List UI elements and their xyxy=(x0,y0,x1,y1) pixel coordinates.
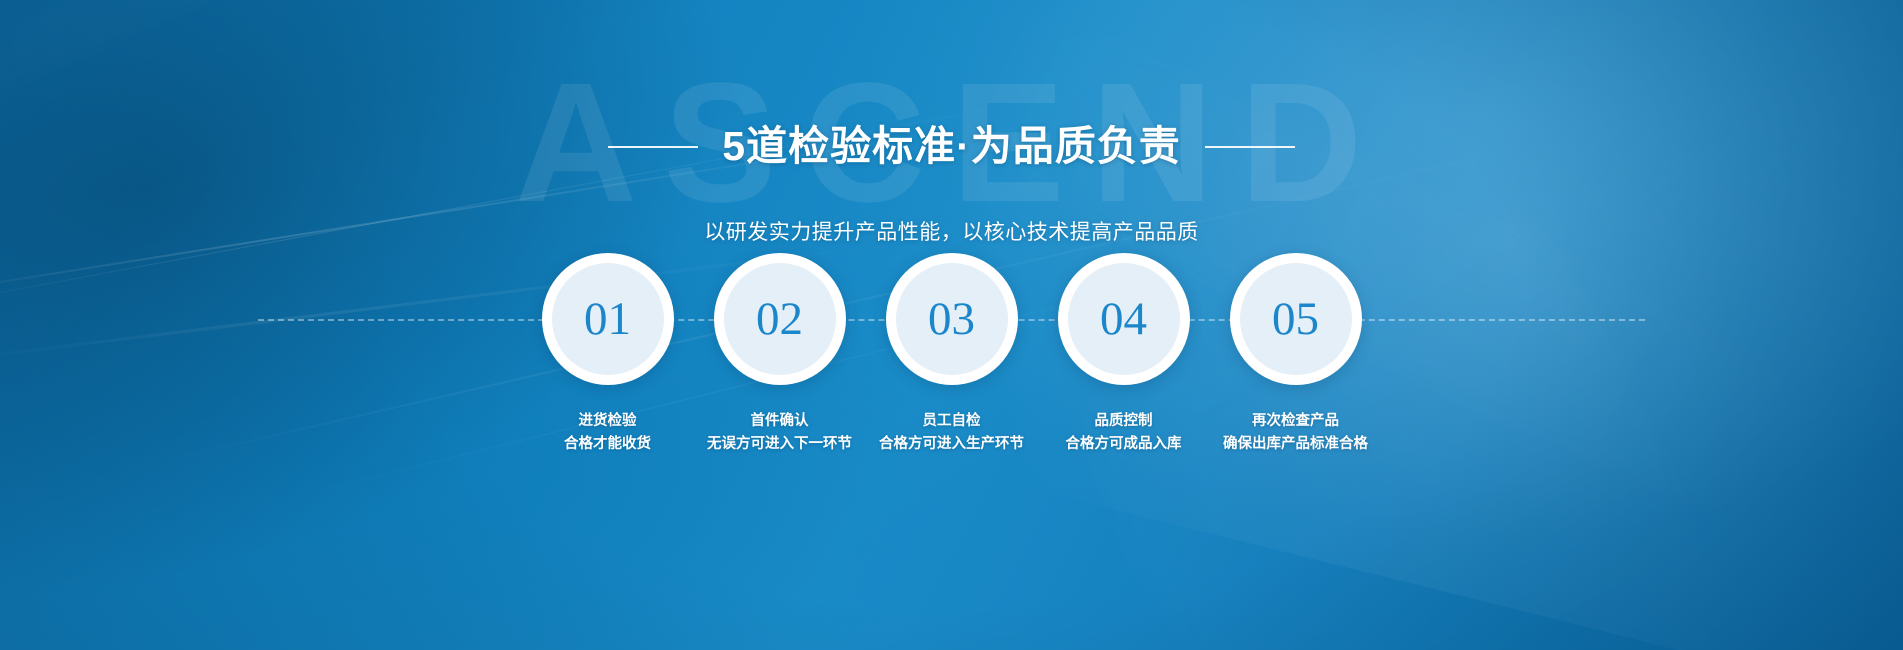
step-item[interactable]: 01进货检验合格才能收货 xyxy=(522,253,694,457)
step-title: 员工自检 xyxy=(879,410,1024,433)
process-steps: 01进货检验合格才能收货02首件确认无误方可进入下一环节03员工自检合格方可进入… xyxy=(0,253,1903,513)
step-list: 01进货检验合格才能收货02首件确认无误方可进入下一环节03员工自检合格方可进入… xyxy=(522,253,1382,457)
step-number: 01 xyxy=(584,296,631,343)
step-title: 进货检验 xyxy=(564,410,651,433)
step-caption: 品质控制合格方可成品入库 xyxy=(1066,410,1182,457)
step-item[interactable]: 02首件确认无误方可进入下一环节 xyxy=(694,253,866,457)
step-bubble[interactable]: 04 xyxy=(1058,253,1190,385)
step-item[interactable]: 05再次检查产品确保出库产品标准合格 xyxy=(1210,253,1382,457)
step-number: 04 xyxy=(1100,296,1147,343)
step-desc: 合格方可成品入库 xyxy=(1066,433,1182,456)
step-item[interactable]: 03员工自检合格方可进入生产环节 xyxy=(866,253,1038,457)
step-caption: 首件确认无误方可进入下一环节 xyxy=(707,410,852,457)
step-desc: 合格方可进入生产环节 xyxy=(879,433,1024,456)
heading-block: 5道检验标准·为品质负责 以研发实力提升产品性能，以核心技术提高产品品质 xyxy=(0,97,1903,246)
step-bubble-inner: 01 xyxy=(552,263,664,375)
step-bubble[interactable]: 01 xyxy=(542,253,674,385)
step-number: 02 xyxy=(756,296,803,343)
quality-standards-banner: ASCEND 5道检验标准·为品质负责 以研发实力提升产品性能，以核心技术提高产… xyxy=(0,0,1903,650)
step-title: 首件确认 xyxy=(707,410,852,433)
step-title: 品质控制 xyxy=(1066,410,1182,433)
step-bubble-inner: 04 xyxy=(1068,263,1180,375)
step-bubble-inner: 05 xyxy=(1240,263,1352,375)
page-subtitle: 以研发实力提升产品性能，以核心技术提高产品品质 xyxy=(0,216,1903,246)
step-bubble-inner: 02 xyxy=(724,263,836,375)
step-bubble[interactable]: 02 xyxy=(714,253,846,385)
title-rule-right xyxy=(1205,146,1295,148)
page-title: 5道检验标准·为品质负责 xyxy=(722,124,1180,170)
step-bubble-inner: 03 xyxy=(896,263,1008,375)
step-desc: 合格才能收货 xyxy=(564,433,651,456)
step-caption: 进货检验合格才能收货 xyxy=(564,410,651,457)
step-number: 05 xyxy=(1272,296,1319,343)
step-caption: 再次检查产品确保出库产品标准合格 xyxy=(1223,410,1368,457)
step-number: 03 xyxy=(928,296,975,343)
step-bubble[interactable]: 05 xyxy=(1230,253,1362,385)
step-desc: 确保出库产品标准合格 xyxy=(1223,433,1368,456)
step-title: 再次检查产品 xyxy=(1223,410,1368,433)
step-bubble[interactable]: 03 xyxy=(886,253,1018,385)
title-rule-left xyxy=(608,146,698,148)
step-caption: 员工自检合格方可进入生产环节 xyxy=(879,410,1024,457)
step-desc: 无误方可进入下一环节 xyxy=(707,433,852,456)
step-item[interactable]: 04品质控制合格方可成品入库 xyxy=(1038,253,1210,457)
